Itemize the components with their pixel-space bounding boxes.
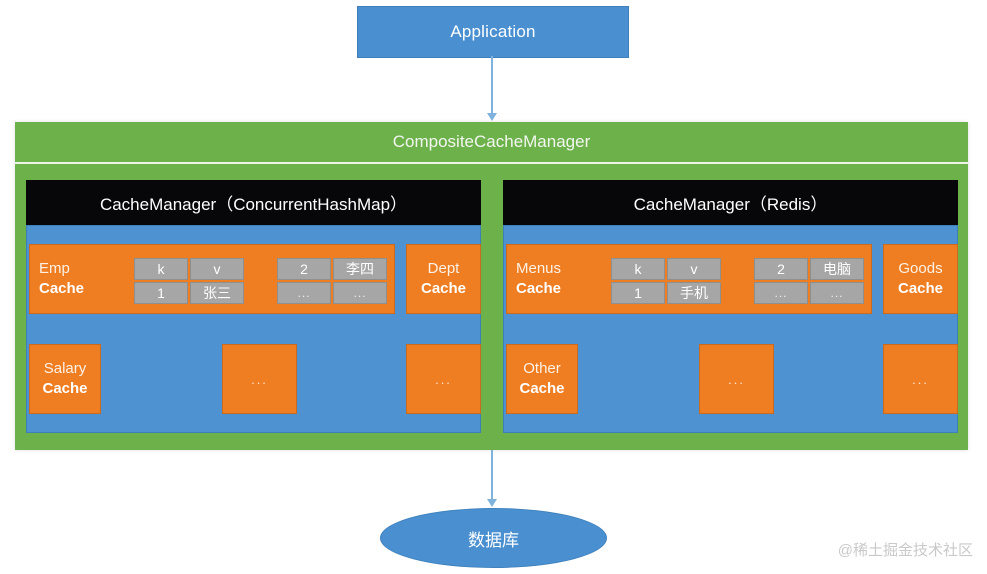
arrow-application-to-composite-head [487,113,497,121]
table-cell: ... [754,282,808,304]
table-row: ... ... [277,282,387,304]
application-label: Application [450,22,535,42]
placeholder-cache-label: ... [435,372,452,387]
placeholder-cache-label: ... [912,372,929,387]
composite-title: CompositeCacheManager [15,122,968,162]
table-cell: v [190,258,244,280]
composite-title-label: CompositeCacheManager [393,132,591,152]
table-cell: ... [333,282,387,304]
table-row: 1 手机 [611,282,721,304]
emp-cache-label: Emp Cache [39,259,84,299]
table-cell: k [134,258,188,280]
table-row: 1 张三 [134,282,244,304]
salary-cache-label: Salary Cache [42,359,87,399]
table-row: 2 电脑 [754,258,864,280]
table-row: ... ... [754,282,864,304]
table-cell: 手机 [667,282,721,304]
cache-manager-panel-redis: CacheManager（Redis） Menus Cache k v [503,180,958,433]
watermark: @稀土掘金技术社区 [838,539,973,560]
cache-manager-header-label: CacheManager（ConcurrentHashMap） [100,190,407,215]
placeholder-cache-box-right-side: ... [883,344,958,414]
emp-cache-table-a: k v 1 张三 [132,256,246,306]
table-cell: ... [810,282,864,304]
table-row: k v [134,258,244,280]
goods-cache-box: Goods Cache [883,244,958,314]
cache-manager-body-concurrenthashmap: Emp Cache k v 1 张三 [26,225,481,433]
menus-cache-label: Menus Cache [516,259,561,299]
composite-divider [15,162,968,164]
placeholder-cache-box-left-mid: ... [222,344,297,414]
dept-cache-label-line1: Dept [428,260,460,277]
cache-manager-header-label: CacheManager（Redis） [634,190,828,215]
menus-cache-table-b: 2 电脑 ... ... [752,256,866,306]
table-cell: 张三 [190,282,244,304]
goods-cache-label-line1: Goods [898,260,942,277]
table-cell: k [611,258,665,280]
cache-manager-header-redis: CacheManager（Redis） [503,180,958,225]
cache-manager-header-concurrenthashmap: CacheManager（ConcurrentHashMap） [26,180,481,225]
dept-cache-label: Dept Cache [421,259,466,299]
salary-cache-box: Salary Cache [29,344,101,414]
dept-cache-box: Dept Cache [406,244,481,314]
table-row: k v [611,258,721,280]
table-cell: ... [277,282,331,304]
other-cache-label-line1: Other [523,360,561,377]
table-cell: 2 [277,258,331,280]
watermark-text: @稀土掘金技术社区 [838,542,973,559]
placeholder-cache-box-right-mid: ... [699,344,774,414]
other-cache-label: Other Cache [519,359,564,399]
menus-cache-strip: Menus Cache k v 1 手机 [506,244,872,314]
emp-cache-label-line2: Cache [39,279,84,299]
table-cell: v [667,258,721,280]
application-box: Application [357,6,629,58]
database-node: 数据库 [380,508,607,568]
composite-cache-manager: CompositeCacheManager CacheManager（Concu… [15,122,968,450]
cache-manager-panel-concurrenthashmap: CacheManager（ConcurrentHashMap） Emp Cach… [26,180,481,433]
database-label: 数据库 [468,526,519,551]
other-cache-label-line2: Cache [519,379,564,399]
emp-cache-strip: Emp Cache k v 1 张三 [29,244,395,314]
table-cell: 1 [134,282,188,304]
other-cache-box: Other Cache [506,344,578,414]
cache-manager-body-redis: Menus Cache k v 1 手机 [503,225,958,433]
dept-cache-label-line2: Cache [421,279,466,299]
diagram-canvas: Application CompositeCacheManager CacheM… [0,0,987,574]
emp-cache-table-b: 2 李四 ... ... [275,256,389,306]
table-row: 2 李四 [277,258,387,280]
placeholder-cache-label: ... [251,372,268,387]
menus-cache-table-a: k v 1 手机 [609,256,723,306]
menus-cache-label-line1: Menus [516,260,561,277]
arrow-composite-to-database-line [491,450,493,500]
arrow-application-to-composite-line [491,56,493,114]
goods-cache-label: Goods Cache [898,259,943,299]
arrow-composite-to-database-head [487,499,497,507]
table-cell: 2 [754,258,808,280]
goods-cache-label-line2: Cache [898,279,943,299]
emp-cache-label-line1: Emp [39,260,70,277]
salary-cache-label-line2: Cache [42,379,87,399]
table-cell: 1 [611,282,665,304]
menus-cache-label-line2: Cache [516,279,561,299]
table-cell: 李四 [333,258,387,280]
placeholder-cache-label: ... [728,372,745,387]
placeholder-cache-box-left-side: ... [406,344,481,414]
salary-cache-label-line1: Salary [44,360,87,377]
table-cell: 电脑 [810,258,864,280]
